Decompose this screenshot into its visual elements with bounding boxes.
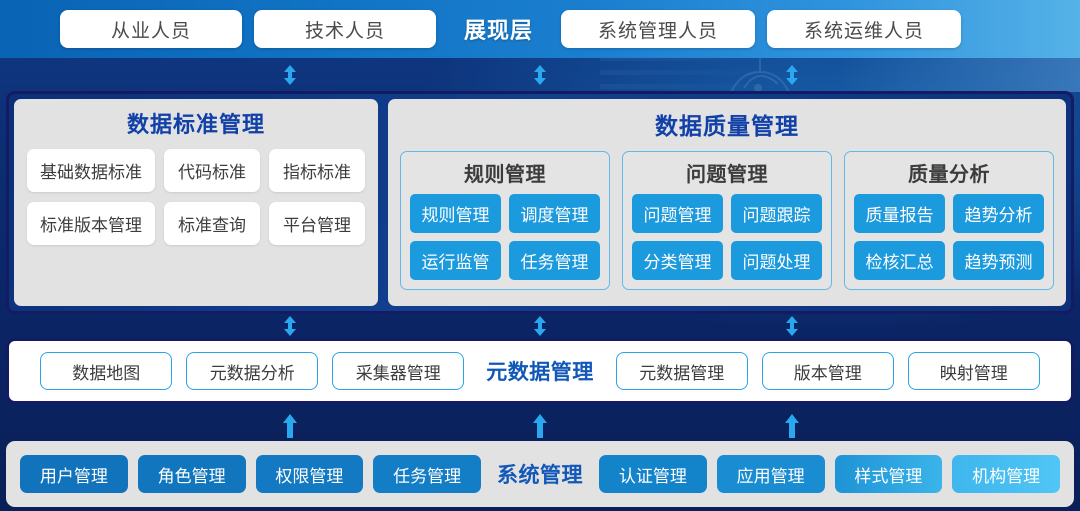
std-item-basic-data-standard[interactable]: 基础数据标准 [27,149,155,192]
issue-item-issue-handling[interactable]: 问题处理 [731,241,822,280]
data-standards-title: 数据标准管理 [24,107,368,139]
subpanel-rule-management: 规则管理 规则管理 调度管理 运行监管 任务管理 [400,151,610,290]
quality-item-check-summary[interactable]: 检核汇总 [854,241,945,280]
sys-item-task-management[interactable]: 任务管理 [373,455,481,493]
data-quality-panel: 数据质量管理 规则管理 规则管理 调度管理 运行监管 任务管理 问题管理 问题管… [388,99,1066,306]
rule-item-task-management[interactable]: 任务管理 [509,241,600,280]
data-standards-grid: 基础数据标准 代码标准 指标标准 标准版本管理 标准查询 平台管理 [24,149,368,245]
subpanel-issue-management: 问题管理 问题管理 问题跟踪 分类管理 问题处理 [622,151,832,290]
quality-item-trend-analysis[interactable]: 趋势分析 [953,194,1044,233]
top-item-technician[interactable]: 技术人员 [254,10,436,48]
sys-item-application-management[interactable]: 应用管理 [717,455,825,493]
sys-item-user-management[interactable]: 用户管理 [20,455,128,493]
sys-item-style-management[interactable]: 样式管理 [835,455,943,493]
data-standards-row: 基础数据标准 代码标准 指标标准 [24,149,368,192]
sys-item-org-management[interactable]: 机构管理 [952,455,1060,493]
data-quality-subpanels: 规则管理 规则管理 调度管理 运行监管 任务管理 问题管理 问题管理 问题跟踪 … [398,151,1056,290]
meta-item-version-management[interactable]: 版本管理 [762,352,894,390]
meta-item-mapping-management[interactable]: 映射管理 [908,352,1040,390]
governance-layer-frame: 数据标准管理 基础数据标准 代码标准 指标标准 标准版本管理 标准查询 平台管理… [6,91,1074,314]
quality-item-quality-report[interactable]: 质量报告 [854,194,945,233]
architecture-diagram: 从业人员 技术人员 展现层 系统管理人员 系统运维人员 数据标准管理 基础数据标… [0,0,1080,511]
issue-item-category-management[interactable]: 分类管理 [632,241,723,280]
subpanel-issue-management-grid: 问题管理 问题跟踪 分类管理 问题处理 [632,194,822,280]
top-item-system-ops[interactable]: 系统运维人员 [767,10,961,48]
sys-item-role-management[interactable]: 角色管理 [138,455,246,493]
subpanel-quality-analysis-grid: 质量报告 趋势分析 检核汇总 趋势预测 [854,194,1044,280]
issue-item-issue-tracking[interactable]: 问题跟踪 [731,194,822,233]
issue-item-issue-management[interactable]: 问题管理 [632,194,723,233]
sys-item-auth-management[interactable]: 认证管理 [599,455,707,493]
meta-item-metadata-management[interactable]: 元数据管理 [616,352,748,390]
rule-item-runtime-monitoring[interactable]: 运行监管 [410,241,501,280]
data-quality-title: 数据质量管理 [398,107,1056,141]
meta-item-collector-management[interactable]: 采集器管理 [332,352,464,390]
metadata-layer-label: 元数据管理 [478,356,602,386]
presentation-layer-bar: 从业人员 技术人员 展现层 系统管理人员 系统运维人员 [0,0,1080,58]
subpanel-quality-analysis-title: 质量分析 [854,158,1044,187]
data-standards-row: 标准版本管理 标准查询 平台管理 [24,202,368,245]
presentation-layer-label: 展现层 [448,13,549,45]
subpanel-issue-management-title: 问题管理 [632,158,822,187]
sys-item-permission-management[interactable]: 权限管理 [256,455,364,493]
std-item-version-management[interactable]: 标准版本管理 [27,202,155,245]
rule-item-schedule-management[interactable]: 调度管理 [509,194,600,233]
metadata-layer-row: 数据地图 元数据分析 采集器管理 元数据管理 元数据管理 版本管理 映射管理 [6,338,1074,404]
subpanel-rule-management-grid: 规则管理 调度管理 运行监管 任务管理 [410,194,600,280]
std-item-code-standard[interactable]: 代码标准 [164,149,260,192]
top-item-practitioner[interactable]: 从业人员 [60,10,242,48]
quality-item-trend-forecast[interactable]: 趋势预测 [953,241,1044,280]
std-item-standard-query[interactable]: 标准查询 [164,202,260,245]
system-layer-row: 用户管理 角色管理 权限管理 任务管理 系统管理 认证管理 应用管理 样式管理 … [6,441,1074,507]
subpanel-rule-management-title: 规则管理 [410,158,600,187]
std-item-platform-management[interactable]: 平台管理 [269,202,365,245]
std-item-indicator-standard[interactable]: 指标标准 [269,149,365,192]
rule-item-rule-management[interactable]: 规则管理 [410,194,501,233]
data-standards-panel: 数据标准管理 基础数据标准 代码标准 指标标准 标准版本管理 标准查询 平台管理 [14,99,378,306]
subpanel-quality-analysis: 质量分析 质量报告 趋势分析 检核汇总 趋势预测 [844,151,1054,290]
system-layer-label: 系统管理 [491,459,589,489]
top-item-system-admin[interactable]: 系统管理人员 [561,10,755,48]
meta-item-data-map[interactable]: 数据地图 [40,352,172,390]
meta-item-metadata-analysis[interactable]: 元数据分析 [186,352,318,390]
